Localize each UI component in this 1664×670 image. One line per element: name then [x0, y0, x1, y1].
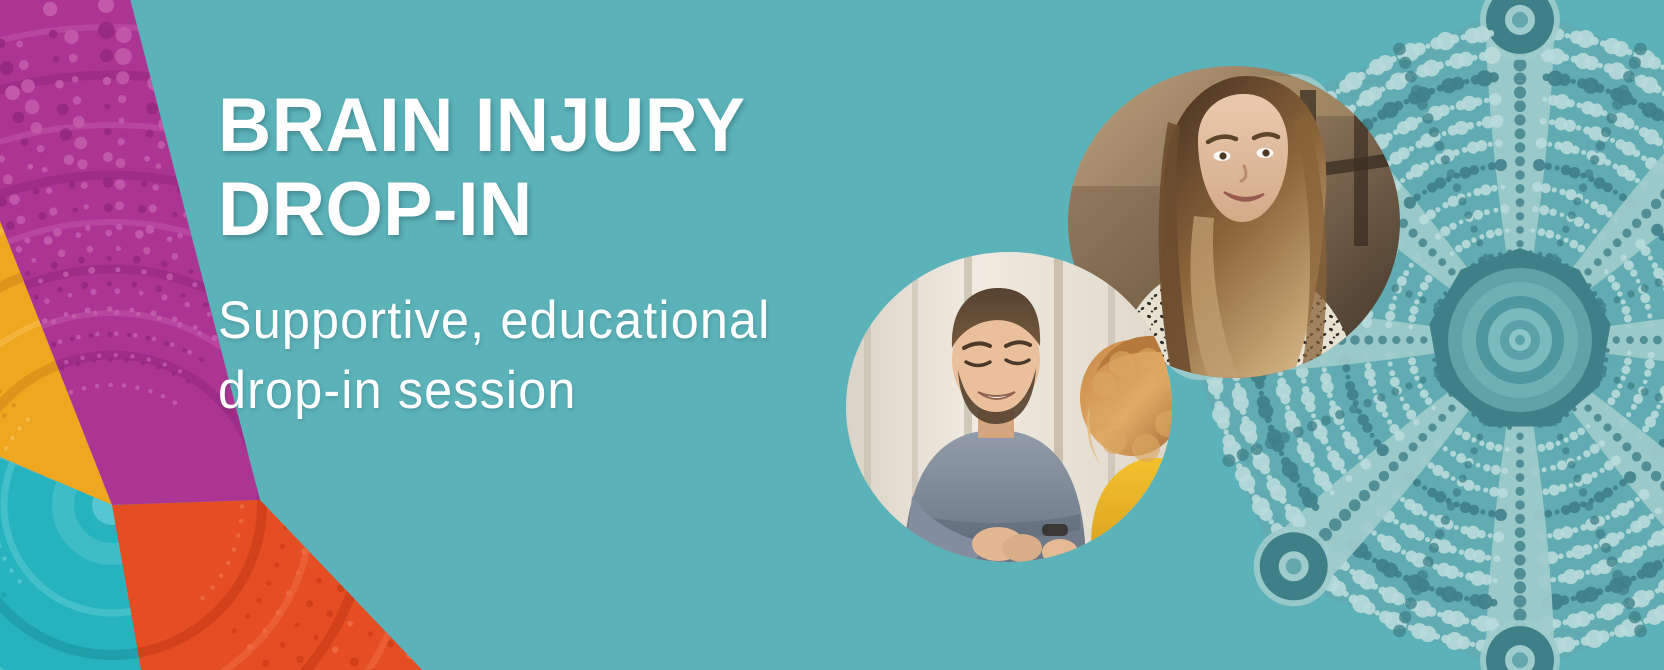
banner-copy: BRAIN INJURY DROP-IN Supportive, educati… — [218, 84, 918, 426]
brain-injury-drop-in-banner: BRAIN INJURY DROP-IN Supportive, educati… — [0, 0, 1664, 670]
page-title: BRAIN INJURY DROP-IN — [218, 84, 897, 252]
page-subtitle: Supportive, educational drop-in session — [218, 286, 883, 426]
